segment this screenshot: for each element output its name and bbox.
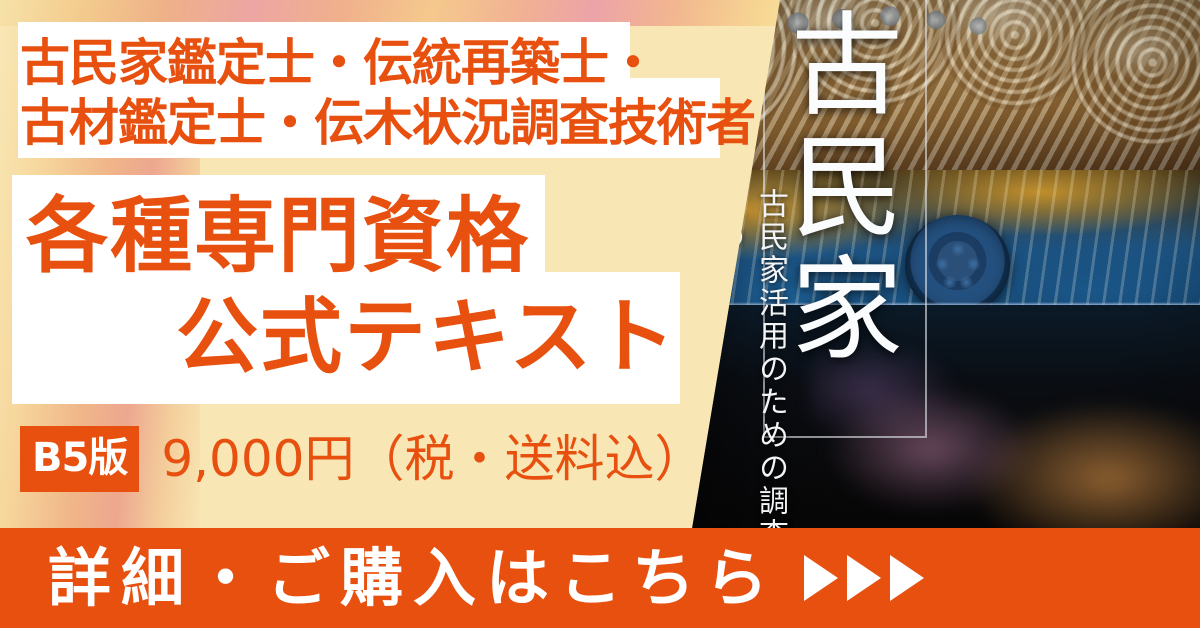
format-badge: B5版	[20, 426, 139, 492]
book-cover-title: 古民家	[782, 6, 902, 372]
cta-label: 詳細・ご購入はこちら	[48, 547, 778, 610]
triangle-right-icon	[890, 555, 924, 601]
cta-arrows	[804, 555, 924, 601]
cta-bar[interactable]: 詳細・ご購入はこちら	[0, 528, 1200, 628]
qualifications-line-1: 古民家鑑定士・伝統再築士・	[20, 38, 657, 88]
title-line-1: 各種専門資格	[26, 196, 530, 278]
triangle-right-icon	[847, 555, 881, 601]
price-row: B5版 9,000円（税・送料込）	[20, 428, 704, 490]
promo-banner: 古民家 伝統構法 古民家活用のための調査と再生の 古民家鑑定士・伝統再築士・ 古…	[0, 0, 1200, 628]
triangle-right-icon	[804, 555, 838, 601]
qualifications-line-2: 古材鑑定士・伝木状況調査技術者	[20, 98, 755, 148]
title-line-2: 公式テキスト	[176, 297, 678, 379]
price-amount: 9,000円（税・送料込）	[161, 434, 704, 484]
